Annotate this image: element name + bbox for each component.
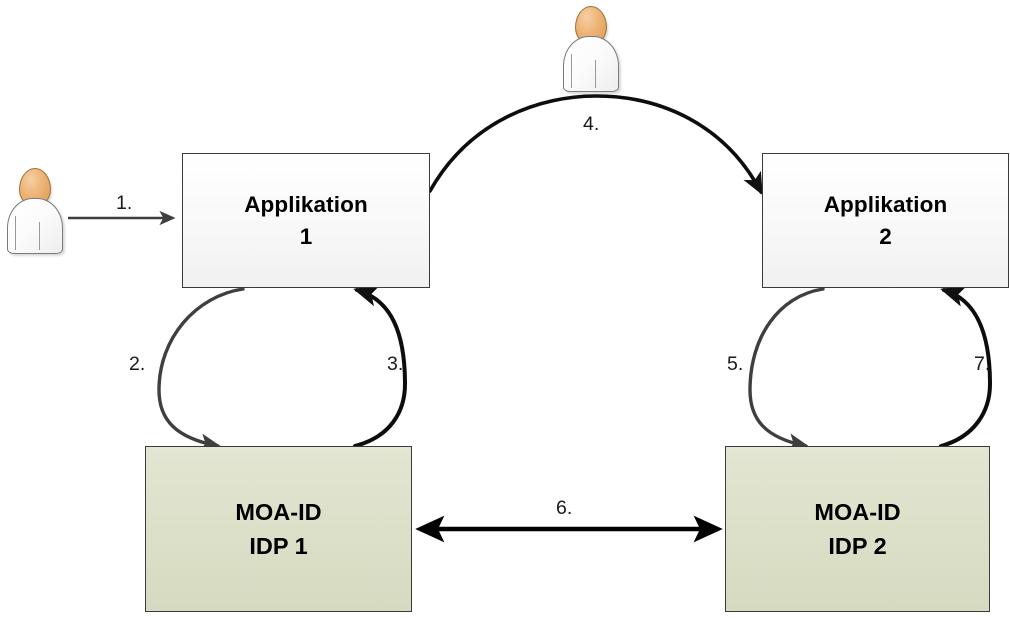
step-label-1: 1. (116, 192, 132, 215)
moa-id-idp-2-node[interactable]: MOA-ID IDP 2 (725, 446, 990, 612)
step-label-6: 6. (556, 497, 572, 520)
moa-id-idp-2-label-line2: IDP 2 (828, 531, 886, 562)
user-arm-left-icon (571, 54, 572, 88)
step-label-3: 3. (387, 353, 403, 376)
user-actor-top (562, 6, 618, 90)
application-2-label-line2: 2 (879, 222, 892, 251)
connector-step-2 (159, 289, 243, 446)
application-2-node[interactable]: Applikation 2 (762, 153, 1009, 288)
application-1-node[interactable]: Applikation 1 (182, 153, 430, 288)
connector-step-4 (430, 96, 761, 192)
user-arm-right-icon (595, 60, 596, 88)
diagram-canvas: Applikation 1 Applikation 2 MOA-ID IDP 1… (0, 0, 1010, 618)
moa-id-idp-1-label-line2: IDP 1 (249, 531, 307, 562)
user-actor-left (6, 168, 62, 252)
step-label-4: 4. (583, 113, 599, 136)
user-arm-left-icon (15, 216, 16, 250)
connector-step-5 (750, 289, 823, 446)
moa-id-idp-1-label-line1: MOA-ID (235, 497, 321, 528)
moa-id-idp-2-label-line1: MOA-ID (814, 497, 900, 528)
step-label-2: 2. (129, 353, 145, 376)
application-1-label-line2: 1 (300, 222, 313, 251)
application-1-label-line1: Applikation (244, 190, 368, 219)
moa-id-idp-1-node[interactable]: MOA-ID IDP 1 (145, 446, 412, 612)
step-label-7: 7. (974, 353, 990, 376)
step-label-5: 5. (727, 353, 743, 376)
user-arm-right-icon (39, 222, 40, 250)
application-2-label-line1: Applikation (824, 190, 948, 219)
